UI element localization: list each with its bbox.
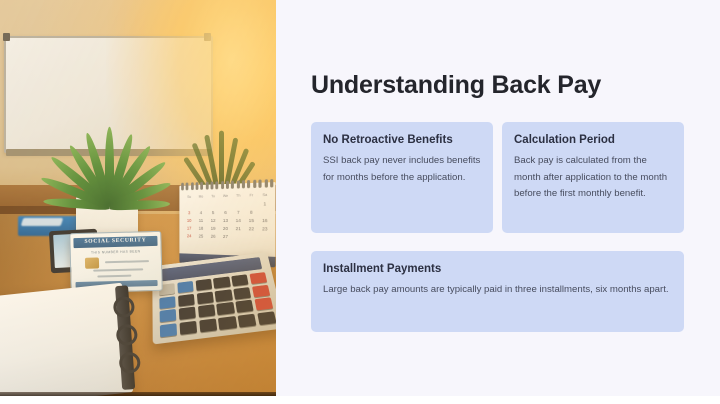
calendar-grid: Su Mo Tu We Th Fr Sa 1 3 4 5 6 7 8 — [184, 192, 271, 241]
calendar-day: 22 — [245, 225, 257, 232]
calendar-weekday: Sa — [259, 192, 272, 200]
info-card-calculation-period: Calculation Period Back pay is calculate… — [502, 122, 684, 233]
calendar-day: 11 — [195, 217, 206, 224]
calendar-day — [245, 233, 257, 240]
calendar-day: 17 — [184, 225, 195, 232]
calendar-day — [245, 200, 257, 207]
calendar-day: 5 — [207, 209, 218, 216]
calendar-day: 23 — [259, 225, 272, 232]
card-chip-icon — [85, 257, 99, 268]
calendar-weekday: We — [220, 193, 232, 200]
calendar-weekday: Su — [184, 194, 195, 201]
info-card-heading: No Retroactive Benefits — [323, 133, 481, 148]
calendar-weekday: Fr — [245, 192, 257, 200]
calendar-day: 24 — [184, 232, 195, 239]
info-card-installment-payments: Installment Payments Large back pay amou… — [311, 251, 684, 332]
calculator-keypad — [159, 272, 276, 337]
calendar-day: 27 — [220, 233, 232, 240]
calendar-day: 18 — [195, 225, 206, 232]
info-card-body: Back pay is calculated from the month af… — [514, 153, 672, 203]
info-card-body: SSI back pay never includes benefits for… — [323, 153, 481, 186]
calendar-weekday: Mo — [195, 194, 206, 201]
social-security-card-subtitle: THIS NUMBER HAS BEEN — [71, 249, 161, 255]
calendar-day: 21 — [232, 225, 244, 232]
notebook — [0, 283, 133, 398]
calendar-day — [259, 233, 272, 241]
info-card-heading: Calculation Period — [514, 133, 672, 148]
calendar-day: 3 — [184, 209, 195, 216]
hero-photo: Su Mo Tu We Th Fr Sa 1 3 4 5 6 7 8 — [0, 0, 276, 398]
calendar-day: 20 — [220, 225, 232, 232]
calendar-day: 8 — [245, 209, 257, 216]
info-cards-row: No Retroactive Benefits SSI back pay nev… — [311, 122, 684, 233]
calendar-day: 16 — [259, 217, 272, 224]
desk-calendar: Su Mo Tu We Th Fr Sa 1 3 4 5 6 7 8 — [179, 182, 275, 258]
calendar-day — [232, 201, 244, 208]
slide-bottom-strip — [0, 396, 720, 404]
calendar-day: 12 — [207, 217, 218, 224]
calendar-day: 1 — [259, 200, 272, 208]
info-card-no-retroactive-benefits: No Retroactive Benefits SSI back pay nev… — [311, 122, 493, 233]
card-text-line — [105, 260, 149, 263]
calendar-day: 13 — [220, 217, 232, 224]
calendar-day: 14 — [232, 217, 244, 224]
whiteboard-clip-right — [204, 33, 211, 41]
whiteboard-clip-left — [3, 33, 10, 41]
page-title: Understanding Back Pay — [311, 70, 601, 100]
calendar-day: 7 — [232, 209, 244, 216]
calendar-day — [184, 202, 195, 209]
card-text-line — [97, 275, 131, 278]
calendar-weekday: Th — [232, 192, 244, 199]
info-card-heading: Installment Payments — [323, 262, 672, 277]
content-panel: Understanding Back Pay No Retroactive Be… — [276, 0, 720, 396]
slide-root: Su Mo Tu We Th Fr Sa 1 3 4 5 6 7 8 — [0, 0, 720, 404]
calendar-day: 15 — [245, 217, 257, 224]
calendar-day: 25 — [195, 233, 206, 240]
calendar-day: 4 — [195, 209, 206, 216]
agave-plant — [52, 96, 164, 206]
calendar-day: 26 — [207, 233, 218, 240]
calendar-day: 19 — [207, 225, 218, 232]
calendar-day: 10 — [184, 217, 195, 224]
calendar-day — [232, 233, 244, 240]
calendar-day — [195, 201, 206, 208]
calendar-day — [220, 201, 232, 208]
calendar-day — [259, 208, 272, 215]
calendar-day: 6 — [220, 209, 232, 216]
info-card-body: Large back pay amounts are typically pai… — [323, 282, 672, 299]
calendar-weekday: Tu — [207, 193, 218, 200]
calculator — [152, 252, 276, 344]
calendar-day — [207, 201, 218, 208]
card-text-line — [93, 268, 143, 271]
